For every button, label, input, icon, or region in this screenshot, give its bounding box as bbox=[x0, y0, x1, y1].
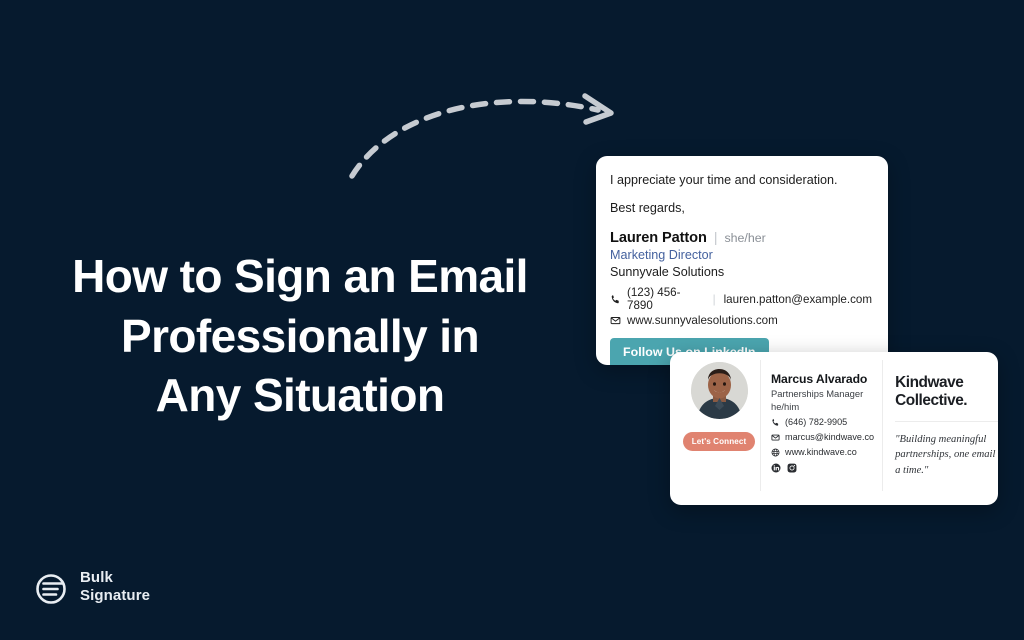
contact-row-website: www.sunnyvalesolutions.com bbox=[610, 314, 872, 327]
job-title: Partnerships Manager bbox=[771, 388, 874, 401]
envelope-icon bbox=[771, 433, 780, 442]
divider bbox=[895, 421, 998, 422]
headline-line-3: Any Situation bbox=[0, 366, 600, 426]
signoff-line: Best regards, bbox=[610, 200, 872, 217]
contact-row-phone-email: (123) 456-7890 | lauren.patton@example.c… bbox=[610, 286, 872, 312]
website-url[interactable]: www.kindwave.co bbox=[785, 447, 857, 458]
brand-logo: Bulk Signature bbox=[32, 566, 150, 608]
phone-icon bbox=[610, 294, 621, 305]
company-name: Kindwave Collective. bbox=[895, 374, 998, 409]
name-row: Lauren Patton | she/her bbox=[610, 229, 872, 246]
name-separator: | bbox=[714, 229, 718, 245]
bulksignature-logo-mark-icon bbox=[32, 566, 70, 608]
phone-icon bbox=[771, 418, 780, 427]
headline-line-1: How to Sign an Email bbox=[0, 247, 600, 307]
job-title: Marketing Director bbox=[610, 247, 872, 264]
contact-row-website: www.kindwave.co bbox=[771, 447, 874, 458]
curved-dashed-arrow-icon bbox=[330, 70, 630, 190]
website-url[interactable]: www.sunnyvalesolutions.com bbox=[627, 314, 778, 327]
email-address[interactable]: marcus@kindwave.co bbox=[785, 432, 874, 443]
contact-details-column: Marcus Alvarado Partnerships Manager he/… bbox=[760, 360, 882, 491]
company-branding-column: Kindwave Collective. "Building meaningfu… bbox=[882, 360, 998, 491]
instagram-icon[interactable] bbox=[787, 463, 797, 473]
signature-name: Marcus Alvarado bbox=[771, 372, 874, 386]
company-name: Sunnyvale Solutions bbox=[610, 264, 872, 281]
phone-number: (646) 782-9905 bbox=[785, 417, 847, 428]
globe-icon bbox=[771, 448, 780, 457]
company-tagline-quote: "Building meaningful partnerships, one e… bbox=[895, 432, 998, 478]
email-signature-card-lauren: I appreciate your time and consideration… bbox=[596, 156, 888, 365]
arrow-curve bbox=[352, 101, 598, 176]
avatar bbox=[691, 362, 748, 419]
brand-name: Bulk Signature bbox=[80, 569, 150, 604]
phone-number: (123) 456-7890 bbox=[627, 286, 705, 312]
pronouns: he/him bbox=[771, 401, 874, 414]
envelope-icon bbox=[610, 315, 621, 326]
contact-row-email: marcus@kindwave.co bbox=[771, 432, 874, 443]
headline-line-2: Professionally in bbox=[0, 307, 600, 367]
spacer bbox=[610, 189, 872, 200]
social-icons-row bbox=[771, 463, 874, 473]
contact-row-phone: (646) 782-9905 bbox=[771, 417, 874, 428]
contact-separator: | bbox=[711, 293, 718, 306]
closing-line: I appreciate your time and consideration… bbox=[610, 172, 872, 189]
pronouns: she/her bbox=[724, 231, 765, 245]
linkedin-icon[interactable] bbox=[771, 463, 781, 473]
user-photo-avatar-icon bbox=[691, 362, 748, 419]
brand-name-line-1: Bulk bbox=[80, 569, 150, 587]
email-signature-card-marcus: Let's Connect Marcus Alvarado Partnershi… bbox=[670, 352, 998, 505]
avatar-column: Let's Connect bbox=[670, 352, 760, 505]
page-title: How to Sign an Email Professionally in A… bbox=[0, 247, 600, 426]
lets-connect-button[interactable]: Let's Connect bbox=[683, 432, 756, 451]
signature-name: Lauren Patton bbox=[610, 230, 707, 246]
company-name-line-2: Collective. bbox=[895, 392, 998, 410]
brand-name-line-2: Signature bbox=[80, 587, 150, 605]
company-name-line-1: Kindwave bbox=[895, 374, 998, 392]
email-address[interactable]: lauren.patton@example.com bbox=[724, 293, 872, 306]
